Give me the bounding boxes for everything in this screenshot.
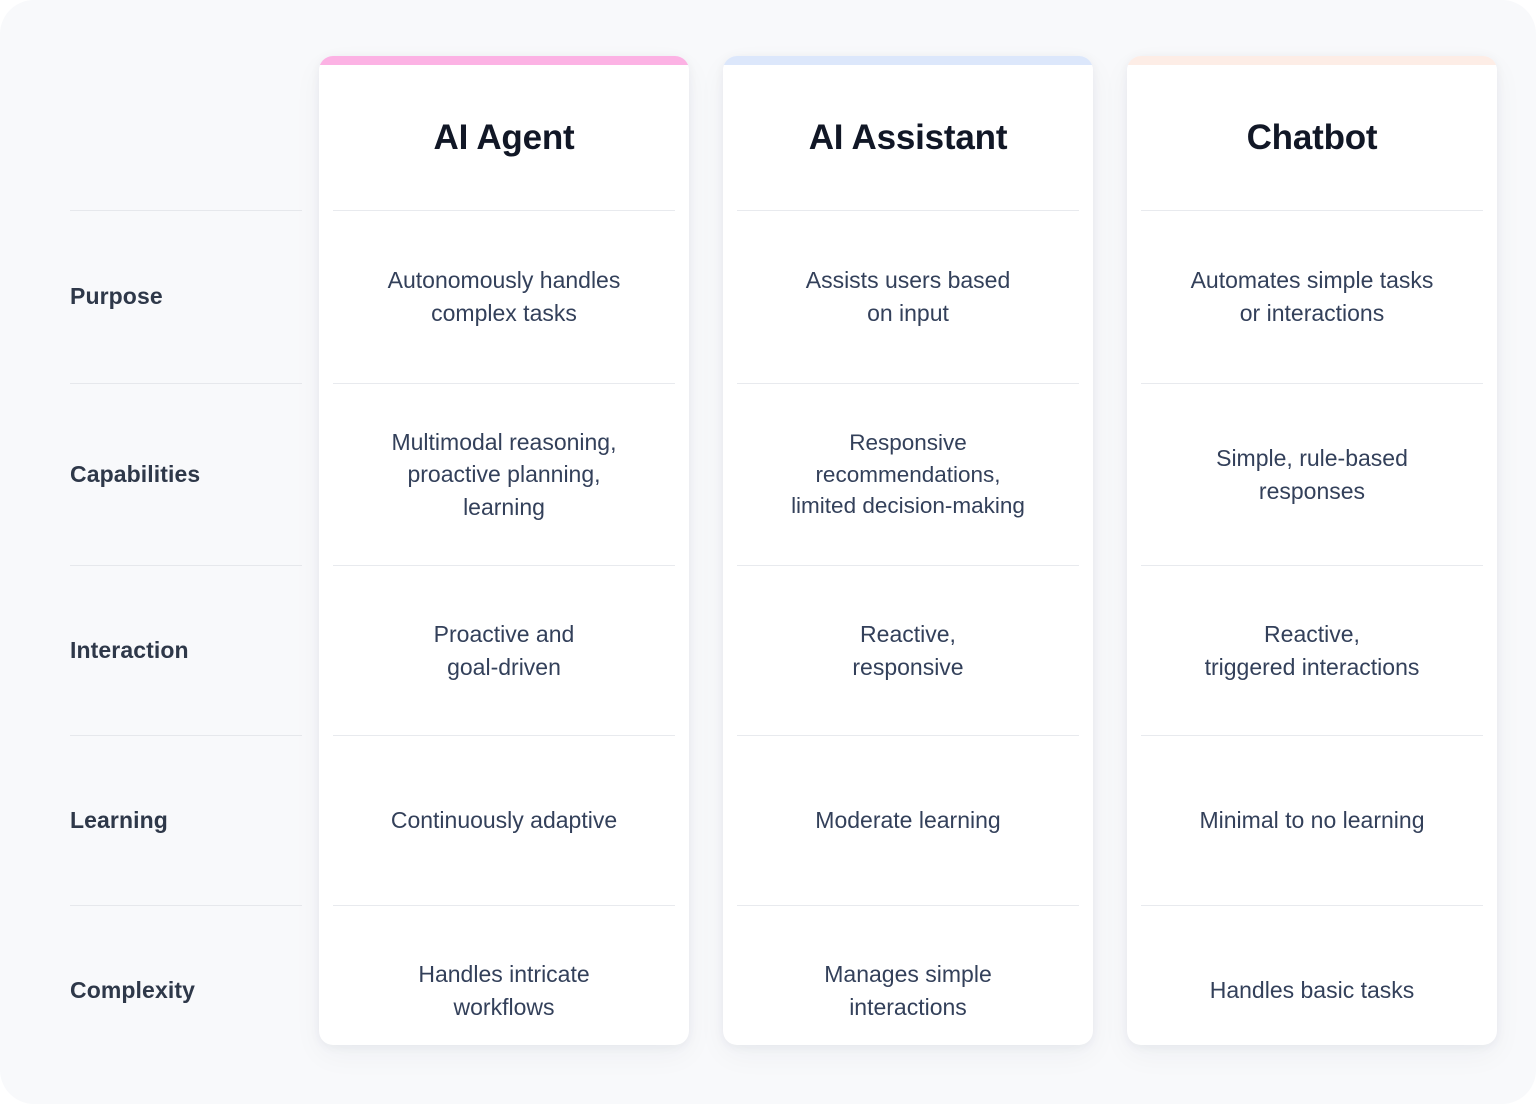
card-title-chatbot: Chatbot: [1127, 65, 1497, 210]
row-label-capabilities: Capabilities: [70, 383, 302, 565]
row-label-text: Complexity: [70, 977, 195, 1005]
row-label-text: Interaction: [70, 637, 189, 665]
cell-ai-assistant-complexity: Manages simple interactions: [737, 905, 1079, 1045]
cell-text: Multimodal reasoning, proactive planning…: [391, 426, 616, 524]
cell-ai-assistant-learning: Moderate learning: [737, 735, 1079, 905]
comparison-card-ai-agent[interactable]: AI Agent Autonomously handles complex ta…: [319, 56, 689, 1045]
cell-ai-agent-learning: Continuously adaptive: [333, 735, 675, 905]
comparison-grid: Purpose Capabilities Interaction Learnin…: [0, 0, 1536, 1104]
row-label-text: Learning: [70, 807, 168, 835]
cell-text: Continuously adaptive: [391, 804, 617, 837]
cell-ai-agent-capabilities: Multimodal reasoning, proactive planning…: [333, 383, 675, 565]
cell-chatbot-capabilities: Simple, rule-based responses: [1141, 383, 1483, 565]
card-body: Automates simple tasks or interactions S…: [1127, 210, 1497, 1045]
cell-ai-assistant-interaction: Reactive, responsive: [737, 565, 1079, 735]
column-wrapper-ai-agent: AI Agent Autonomously handles complex ta…: [302, 0, 706, 1104]
cell-text: Minimal to no learning: [1199, 804, 1424, 837]
row-label-header-spacer: [70, 59, 302, 210]
cell-text: Assists users based on input: [806, 264, 1011, 329]
row-label-text: Purpose: [70, 283, 163, 311]
row-label-purpose: Purpose: [70, 210, 302, 383]
cell-chatbot-learning: Minimal to no learning: [1141, 735, 1483, 905]
card-body: Autonomously handles complex tasks Multi…: [319, 210, 689, 1045]
comparison-card-chatbot[interactable]: Chatbot Automates simple tasks or intera…: [1127, 56, 1497, 1045]
cell-chatbot-interaction: Reactive, triggered interactions: [1141, 565, 1483, 735]
cell-ai-agent-purpose: Autonomously handles complex tasks: [333, 210, 675, 383]
card-accent-bar: [723, 56, 1093, 65]
card-accent-bar: [319, 56, 689, 65]
card-body: Assists users based on input Responsive …: [723, 210, 1093, 1045]
row-label-complexity: Complexity: [70, 905, 302, 1075]
cell-text: Reactive, responsive: [852, 618, 963, 683]
cell-text: Autonomously handles complex tasks: [388, 264, 621, 329]
comparison-card-ai-assistant[interactable]: AI Assistant Assists users based on inpu…: [723, 56, 1093, 1045]
card-accent-bar: [1127, 56, 1497, 65]
cell-text: Handles intricate workflows: [418, 958, 589, 1023]
row-label-interaction: Interaction: [70, 565, 302, 735]
card-title-ai-agent: AI Agent: [319, 65, 689, 210]
cell-ai-assistant-capabilities: Responsive recommendations, limited deci…: [737, 383, 1079, 565]
card-title-ai-assistant: AI Assistant: [723, 65, 1093, 210]
row-label-text: Capabilities: [70, 461, 200, 489]
cell-text: Proactive and goal-driven: [434, 618, 575, 683]
cell-ai-agent-complexity: Handles intricate workflows: [333, 905, 675, 1045]
row-label-column: Purpose Capabilities Interaction Learnin…: [0, 0, 302, 1104]
cell-text: Manages simple interactions: [824, 958, 991, 1023]
cell-text: Automates simple tasks or interactions: [1191, 264, 1434, 329]
cell-text: Reactive, triggered interactions: [1205, 618, 1420, 683]
cell-chatbot-complexity: Handles basic tasks: [1141, 905, 1483, 1045]
row-label-learning: Learning: [70, 735, 302, 905]
cell-text: Moderate learning: [815, 804, 1000, 837]
column-wrapper-ai-assistant: AI Assistant Assists users based on inpu…: [706, 0, 1110, 1104]
cell-text: Simple, rule-based responses: [1216, 442, 1408, 507]
cell-ai-agent-interaction: Proactive and goal-driven: [333, 565, 675, 735]
comparison-table-page: Purpose Capabilities Interaction Learnin…: [0, 0, 1536, 1104]
cell-text: Handles basic tasks: [1210, 974, 1415, 1007]
column-wrapper-chatbot: Chatbot Automates simple tasks or intera…: [1110, 0, 1514, 1104]
cell-ai-assistant-purpose: Assists users based on input: [737, 210, 1079, 383]
cell-text: Responsive recommendations, limited deci…: [791, 427, 1025, 523]
cell-chatbot-purpose: Automates simple tasks or interactions: [1141, 210, 1483, 383]
